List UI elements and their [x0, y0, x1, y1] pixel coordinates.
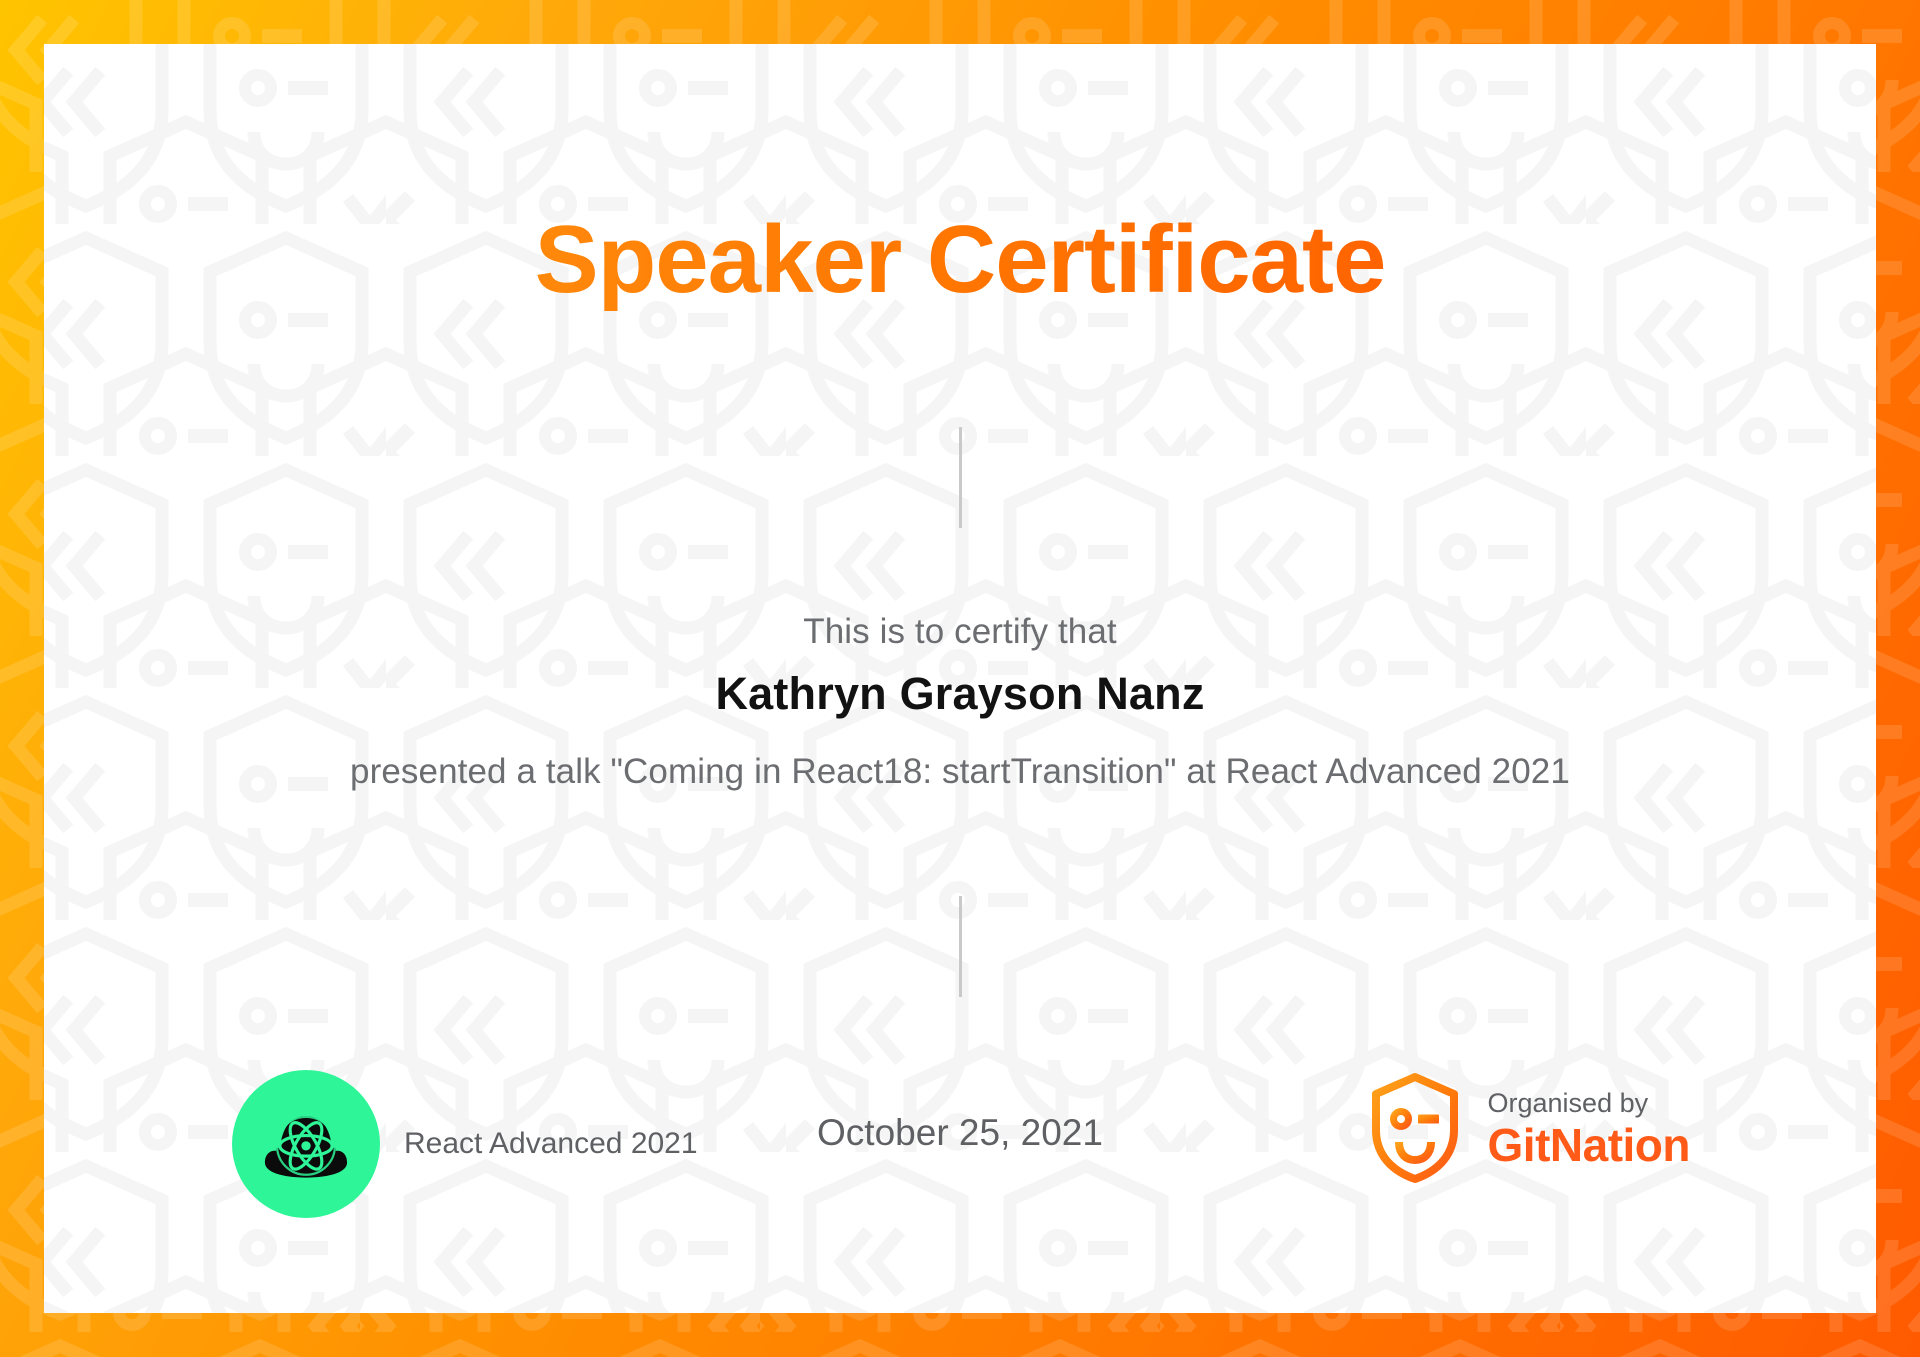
organised-by-label: Organised by	[1488, 1087, 1690, 1119]
recipient-name: Kathryn Grayson Nanz	[44, 668, 1876, 720]
gitnation-shield-face-icon	[1368, 1072, 1462, 1184]
divider-top	[959, 427, 962, 528]
certificate-card: Speaker Certificate This is to certify t…	[44, 44, 1876, 1313]
certify-line: This is to certify that	[44, 612, 1876, 652]
talk-description: presented a talk "Coming in React18: sta…	[44, 752, 1876, 792]
divider-bottom	[959, 896, 962, 997]
page-title: Speaker Certificate	[44, 210, 1876, 311]
organiser-text: Organised by GitNation	[1488, 1087, 1690, 1170]
certificate-footer: React Advanced 2021 October 25, 2021	[44, 1054, 1876, 1234]
organiser-block: Organised by GitNation	[1368, 1072, 1690, 1184]
organiser-name: GitNation	[1488, 1121, 1690, 1169]
speaker-certificate: Speaker Certificate This is to certify t…	[0, 0, 1920, 1357]
